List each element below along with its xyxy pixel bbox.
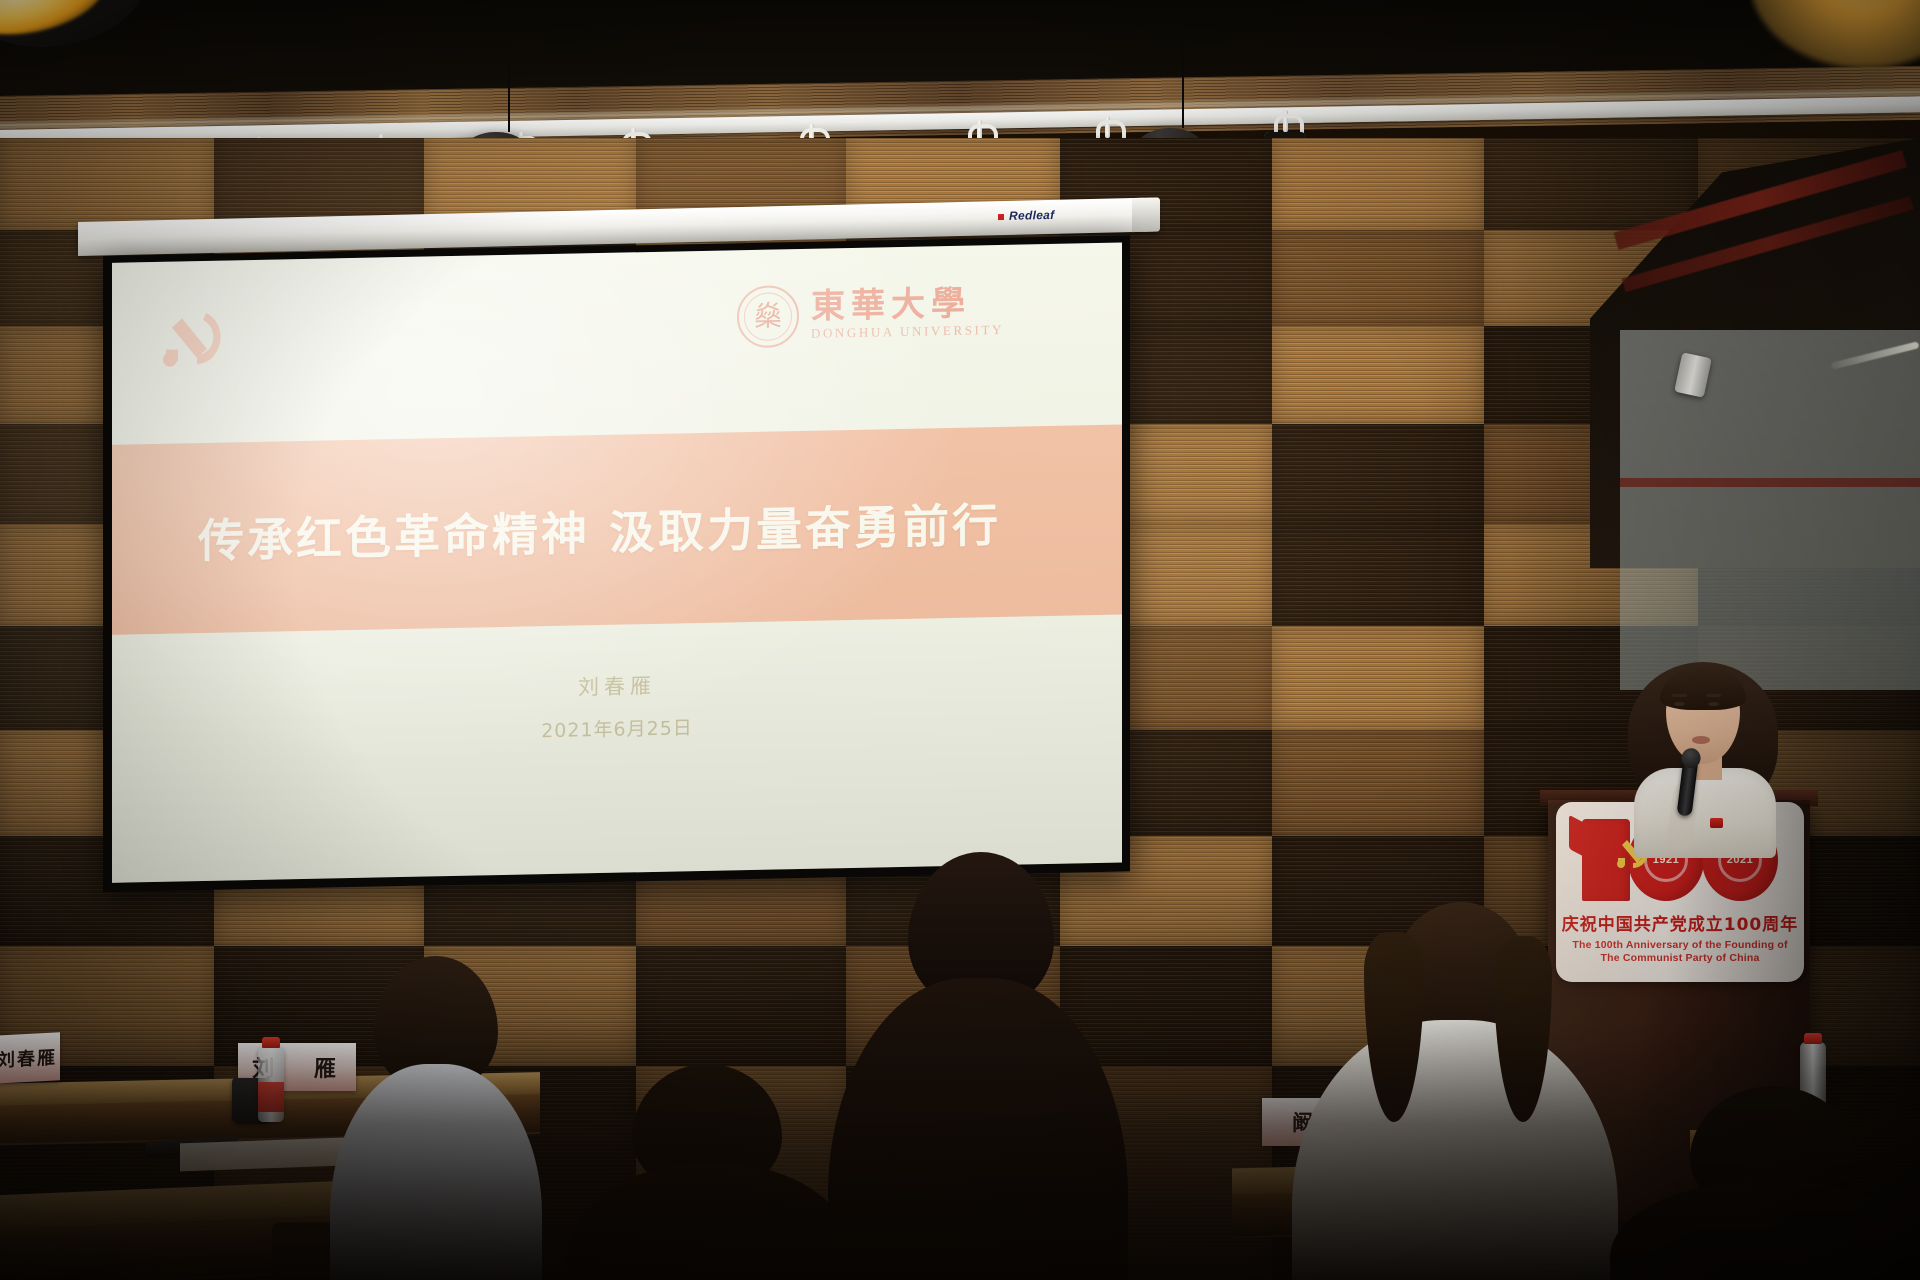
university-logo: 燊 東華大學 DONGHUA UNIVERSITY <box>737 281 1004 348</box>
seal-glyph: 燊 <box>754 302 782 331</box>
slide-credit-block: 刘春雁 2021年6月25日 <box>112 661 1122 752</box>
audience-member-2 <box>576 1064 836 1280</box>
name-card-1-text: 刘春雁 <box>0 1043 57 1072</box>
slide-title: 传承红色革命精神 汲取力量奋勇前行 <box>112 425 1122 635</box>
speaker-eye-left <box>1674 702 1685 706</box>
brand-dot-icon <box>998 214 1004 220</box>
speaker-mouth <box>1692 736 1710 744</box>
bottle-cap <box>262 1037 280 1048</box>
projection-screen: 燊 東華大學 DONGHUA UNIVERSITY 传承红色革命精神 汲取力量奋… <box>112 243 1122 883</box>
speaker-eye-right <box>1708 702 1719 706</box>
slide-date: 2021年6月25日 <box>112 705 1122 752</box>
audience-member-4 <box>1306 902 1606 1280</box>
speaker-torso <box>1634 768 1776 858</box>
bottle-cap <box>1804 1033 1822 1044</box>
water-bottle-left <box>258 1046 284 1122</box>
speaker-brow-left <box>1672 694 1687 697</box>
right-wall-panel <box>1620 330 1920 690</box>
university-name-en: DONGHUA UNIVERSITY <box>811 322 1004 342</box>
projector-brand-label: Redleaf <box>998 208 1054 223</box>
brand-text: Redleaf <box>1009 208 1054 223</box>
bottle-label <box>258 1082 284 1112</box>
name-card-1: 刘春雁 <box>0 1032 60 1083</box>
numeral-one <box>1582 819 1630 901</box>
audience-member-5 <box>1618 1086 1920 1280</box>
projection-screen-frame: 燊 東華大學 DONGHUA UNIVERSITY 传承红色革命精神 汲取力量奋… <box>103 235 1130 892</box>
slide-speaker-name: 刘春雁 <box>112 661 1122 711</box>
right-wall-accent-stripe <box>1620 478 1920 487</box>
hammer-and-sickle-icon <box>160 308 232 371</box>
presenter-speaker <box>1614 650 1794 830</box>
audience-member-1 <box>348 956 524 1280</box>
housing-end-cap <box>1132 197 1160 232</box>
speaker-brow-right <box>1706 694 1721 697</box>
lecture-room-photo: Redleaf 燊 <box>0 0 1920 1280</box>
university-name-cn: 東華大學 <box>811 286 1004 324</box>
university-seal-icon: 燊 <box>737 285 799 348</box>
party-lapel-pin-icon <box>1710 818 1723 828</box>
audience-member-3 <box>832 852 1122 1280</box>
pendant-lamp-far-left <box>0 0 160 76</box>
